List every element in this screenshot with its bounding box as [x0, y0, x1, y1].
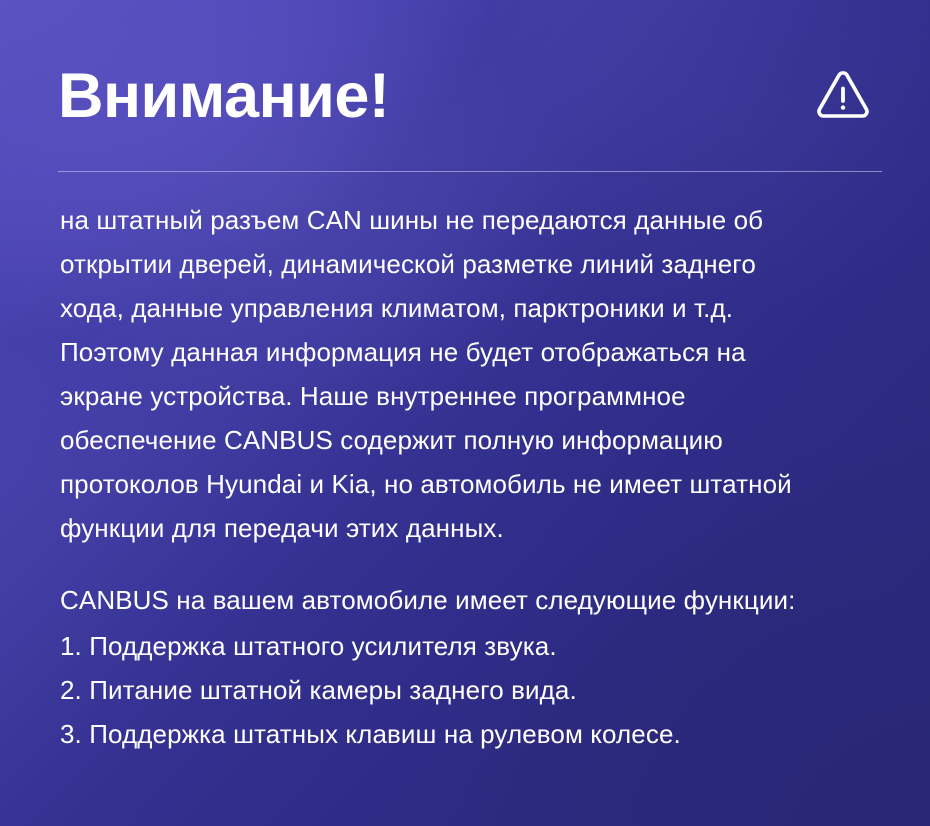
feature-item: 2. Питание штатной камеры заднего вида. — [60, 668, 892, 712]
notice-line: функции для передачи этих данных. — [60, 506, 892, 550]
features-lead: CANBUS на вашем автомобиле имеет следующ… — [60, 578, 892, 622]
warning-banner: Внимание! на штатный разъем CAN шины не … — [0, 0, 930, 826]
warning-triangle-icon — [816, 69, 870, 123]
notice-line: протоколов Hyundai и Kia, но автомобиль … — [60, 462, 892, 506]
notice-line: обеспечение CANBUS содержит полную инфор… — [60, 418, 892, 462]
header-divider — [58, 171, 882, 172]
page-title: Внимание! — [58, 65, 389, 128]
feature-item: 1. Поддержка штатного усилителя звука. — [60, 624, 892, 668]
banner-content: Внимание! на штатный разъем CAN шины не … — [0, 0, 930, 826]
features-section: CANBUS на вашем автомобиле имеет следующ… — [60, 578, 892, 756]
notice-paragraph: на штатный разъем CAN шины не передаются… — [60, 198, 892, 550]
banner-header: Внимание! — [58, 54, 880, 138]
banner-body: на штатный разъем CAN шины не передаются… — [60, 198, 892, 756]
notice-line: Поэтому данная информация не будет отобр… — [60, 330, 892, 374]
feature-item: 3. Поддержка штатных клавиш на рулевом к… — [60, 712, 892, 756]
notice-line: экране устройства. Наше внутреннее прогр… — [60, 374, 892, 418]
notice-line: хода, данные управления климатом, парктр… — [60, 286, 892, 330]
notice-line: на штатный разъем CAN шины не передаются… — [60, 198, 892, 242]
notice-line: открытии дверей, динамической разметке л… — [60, 242, 892, 286]
